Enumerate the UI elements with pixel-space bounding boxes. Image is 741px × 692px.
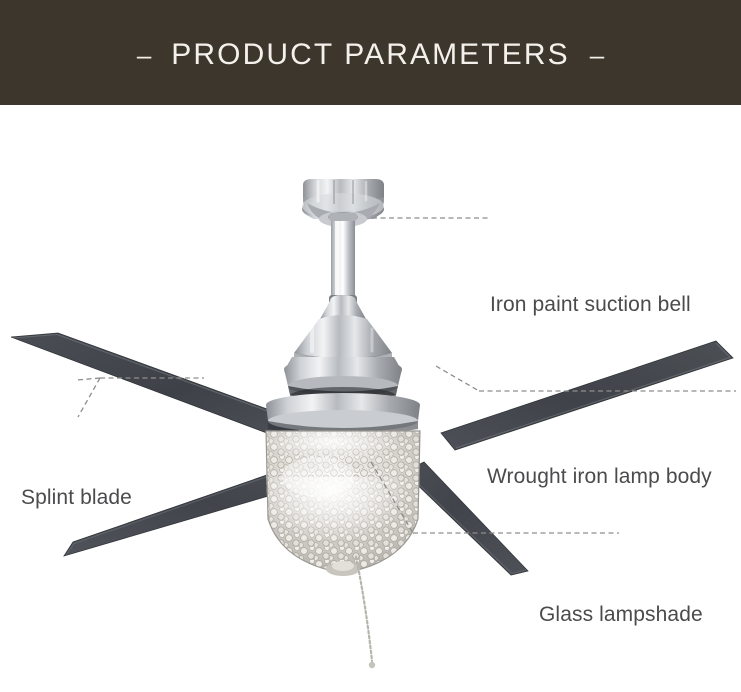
leader-line-lampshade-diagonal: [371, 462, 413, 533]
callout-label-lamp-body: Wrought iron lamp body: [487, 465, 712, 489]
page-title: PRODUCT PARAMETERS: [171, 38, 569, 72]
leader-line-lamp-body-diagonal: [436, 366, 479, 391]
product-illustration: Iron paint suction bell Wrought iron lam…: [0, 105, 741, 692]
header-title-group: – PRODUCT PARAMETERS –: [137, 38, 604, 72]
header-right-dash-icon: –: [590, 42, 604, 68]
header-left-dash-icon: –: [137, 42, 151, 68]
page-header-band: – PRODUCT PARAMETERS –: [0, 0, 741, 105]
leader-line-splint-blade-diagonal: [78, 378, 100, 417]
leader-line-splint-blade-horizontal: [77, 378, 204, 380]
callout-label-suction-bell: Iron paint suction bell: [490, 293, 691, 317]
callout-label-splint-blade: Splint blade: [21, 486, 132, 510]
product-parameters-page: – PRODUCT PARAMETERS –: [0, 0, 741, 692]
callout-label-lampshade: Glass lampshade: [539, 603, 703, 627]
